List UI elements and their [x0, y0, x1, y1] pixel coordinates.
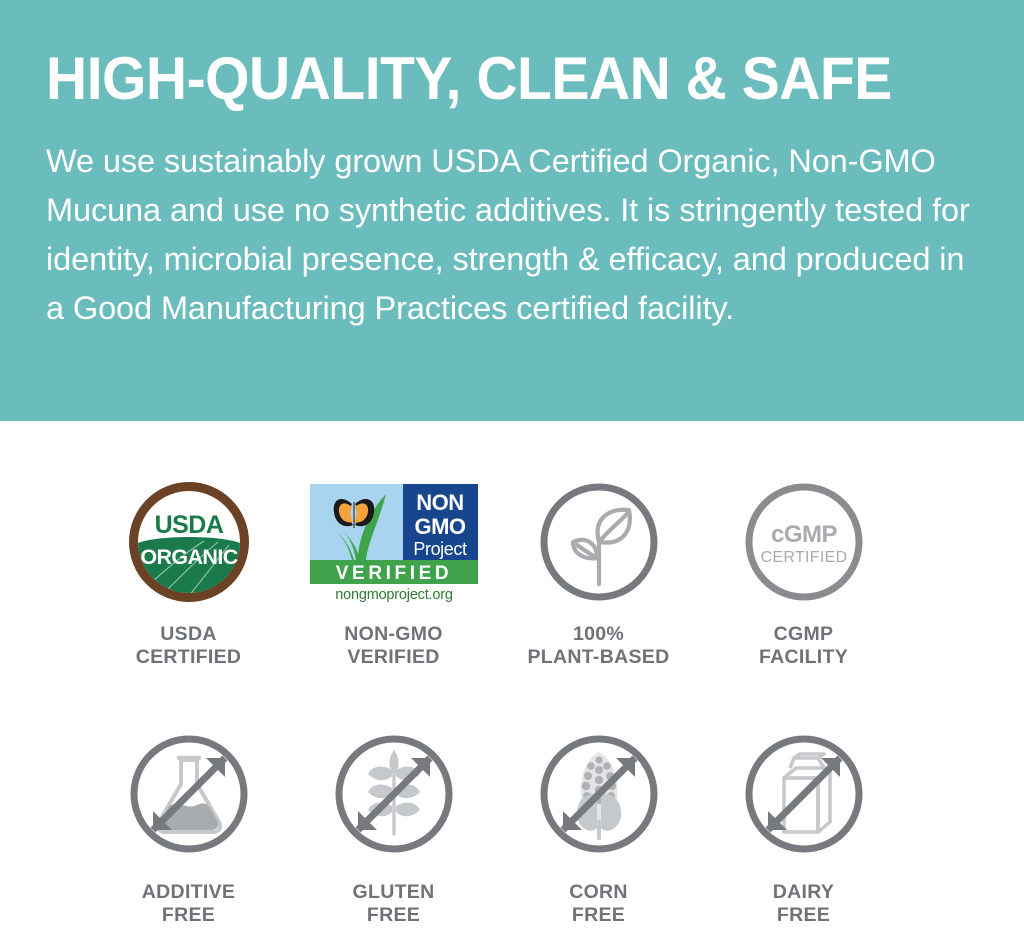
badge-label: ADDITIVE FREE — [142, 881, 235, 927]
usda-organic-seal-icon: USDA ORGANIC — [128, 481, 250, 603]
svg-text:Project: Project — [413, 539, 467, 559]
svg-text:CERTIFIED: CERTIFIED — [760, 549, 847, 566]
certification-badges: USDA ORGANIC USDA CERTIFIED — [0, 421, 1024, 942]
svg-text:GMO: GMO — [414, 514, 465, 539]
badge-corn-free: CORN FREE — [496, 729, 701, 927]
badge-additive-free: ADDITIVE FREE — [86, 729, 291, 927]
no-milk-carton-icon — [740, 730, 868, 858]
plant-sprout-icon — [537, 480, 661, 604]
svg-text:NON: NON — [416, 490, 463, 515]
badge-artwork: USDA ORGANIC — [124, 477, 254, 607]
badge-cgmp-facility: cGMP CERTIFIED CGMP FACILITY — [701, 477, 906, 669]
badge-label: NON-GMO VERIFIED — [344, 623, 443, 669]
svg-text:VERIFIED: VERIFIED — [335, 563, 451, 584]
badge-label: CORN FREE — [569, 881, 628, 927]
svg-text:USDA: USDA — [154, 511, 223, 539]
badge-label: DAIRY FREE — [773, 881, 834, 927]
cgmp-certified-icon: cGMP CERTIFIED — [742, 480, 866, 604]
non-gmo-project-verified-icon: NON GMO Project VERIFIED nongmoproject.o… — [308, 482, 480, 602]
no-corn-icon — [535, 730, 663, 858]
badge-artwork: NON GMO Project VERIFIED nongmoproject.o… — [329, 477, 459, 607]
badge-artwork — [534, 729, 664, 859]
badge-artwork — [739, 729, 869, 859]
badge-usda-certified: USDA ORGANIC USDA CERTIFIED — [86, 477, 291, 669]
no-flask-icon — [125, 730, 253, 858]
header-band: HIGH-QUALITY, CLEAN & SAFE We use sustai… — [0, 0, 1024, 421]
svg-text:cGMP: cGMP — [770, 521, 837, 548]
badge-label: 100% PLANT-BASED — [528, 623, 670, 669]
badge-artwork — [534, 477, 664, 607]
svg-text:nongmoproject.org: nongmoproject.org — [335, 587, 453, 602]
header-description: We use sustainably grown USDA Certified … — [46, 137, 976, 333]
badge-row-2: ADDITIVE FREE — [0, 729, 1024, 927]
badge-label: GLUTEN FREE — [353, 881, 435, 927]
badge-non-gmo-verified: NON GMO Project VERIFIED nongmoproject.o… — [291, 477, 496, 669]
page-title: HIGH-QUALITY, CLEAN & SAFE — [46, 47, 892, 110]
badge-label: CGMP FACILITY — [759, 623, 848, 669]
svg-text:ORGANIC: ORGANIC — [140, 545, 237, 569]
no-wheat-icon — [330, 730, 458, 858]
badge-gluten-free: GLUTEN FREE — [291, 729, 496, 927]
badge-artwork — [124, 729, 254, 859]
badge-plant-based: 100% PLANT-BASED — [496, 477, 701, 669]
badge-label: USDA CERTIFIED — [136, 623, 242, 669]
badge-artwork — [329, 729, 459, 859]
badge-dairy-free: DAIRY FREE — [701, 729, 906, 927]
product-quality-infographic: HIGH-QUALITY, CLEAN & SAFE We use sustai… — [0, 0, 1024, 942]
badge-row-1: USDA ORGANIC USDA CERTIFIED — [0, 477, 1024, 669]
badge-artwork: cGMP CERTIFIED — [739, 477, 869, 607]
